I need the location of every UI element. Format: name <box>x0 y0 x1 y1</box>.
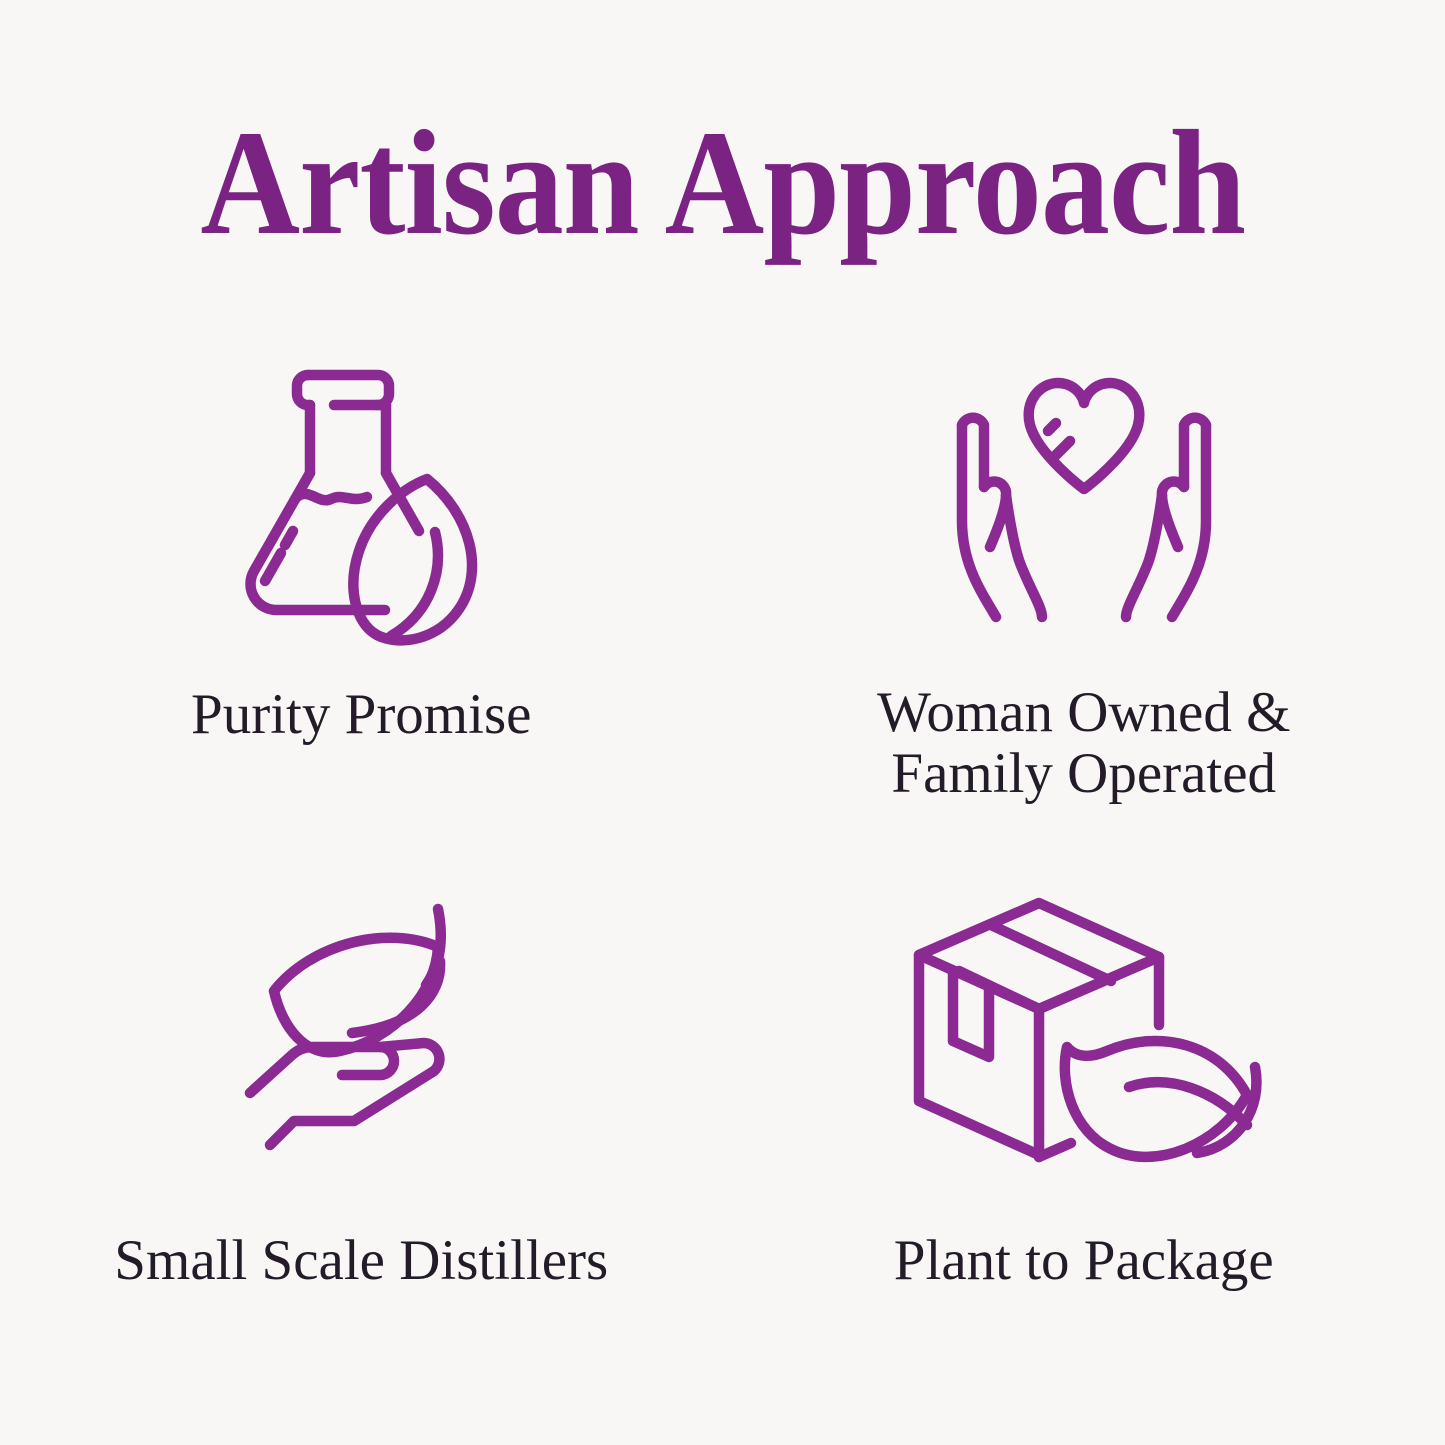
feature-cell-woman-owned: Woman Owned & Family Operated <box>723 330 1445 830</box>
feature-label-woman-owned: Woman Owned & Family Operated <box>867 682 1300 804</box>
feature-cell-small-scale-distillers: Small Scale Distillers <box>0 830 723 1330</box>
page-title-container: Artisan Approach <box>0 108 1445 258</box>
hands-heart-icon <box>924 352 1244 652</box>
flask-leaf-icon <box>201 348 521 648</box>
feature-label-small-scale-distillers: Small Scale Distillers <box>104 1230 618 1291</box>
feature-label-plant-to-package: Plant to Package <box>884 1230 1284 1291</box>
hand-leaf-icon <box>201 874 521 1174</box>
feature-label-purity-promise: Purity Promise <box>181 684 541 745</box>
feature-cell-plant-to-package: Plant to Package <box>723 830 1445 1330</box>
artisan-approach-infographic: Artisan Approach <box>0 0 1445 1445</box>
feature-grid: Purity Promise <box>0 330 1445 1330</box>
feature-cell-purity-promise: Purity Promise <box>0 330 723 830</box>
page-title: Artisan Approach <box>200 108 1245 258</box>
box-leaf-icon <box>924 874 1244 1174</box>
